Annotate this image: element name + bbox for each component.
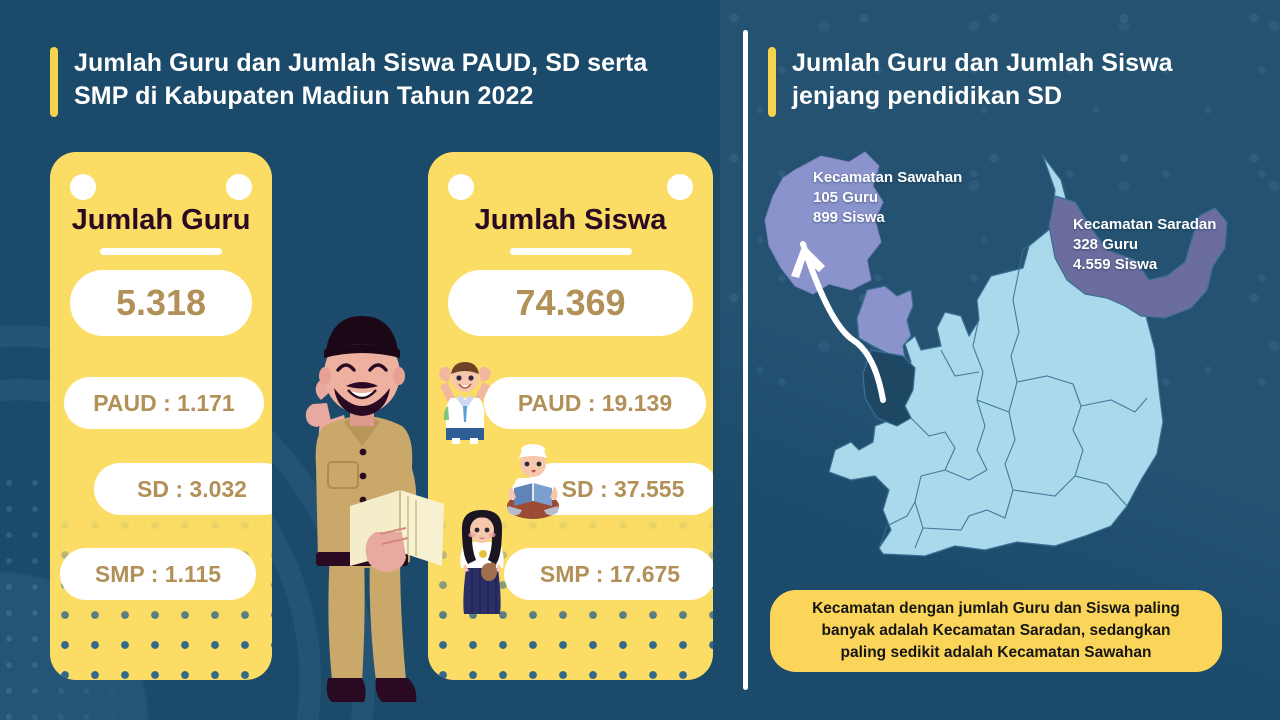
- map-container: Kecamatan Sawahan 105 Guru 899 Siswa Kec…: [755, 150, 1235, 570]
- right-header-accent-bar: [768, 47, 776, 117]
- card-guru-stat-paud: PAUD : 1.171: [64, 377, 264, 429]
- punch-hole-right-icon: [226, 174, 252, 200]
- card-siswa-underline: [510, 248, 632, 255]
- punch-hole-left-icon: [70, 174, 96, 200]
- left-header-accent-bar: [50, 47, 58, 117]
- card-siswa-title: Jumlah Siswa: [428, 204, 713, 237]
- card-guru-underline: [100, 248, 222, 255]
- card-guru-title: Jumlah Guru: [50, 204, 272, 237]
- student-smp-illustration: [452, 508, 512, 620]
- right-header: Jumlah Guru dan Jumlah Siswa jenjang pen…: [768, 47, 1173, 117]
- left-header: Jumlah Guru dan Jumlah Siswa PAUD, SD se…: [50, 47, 647, 117]
- card-siswa-total: 74.369: [448, 270, 693, 336]
- left-header-title: Jumlah Guru dan Jumlah Siswa PAUD, SD se…: [74, 47, 647, 113]
- conclusion-text: Kecamatan dengan jumlah Guru dan Siswa p…: [812, 598, 1180, 664]
- punch-hole-left-icon: [448, 174, 474, 200]
- student-paud-illustration: [434, 358, 496, 444]
- map-label-sawahan: Kecamatan Sawahan 105 Guru 899 Siswa: [813, 168, 962, 228]
- card-siswa-stat-smp: SMP : 17.675: [504, 548, 713, 600]
- card-guru-stat-sd: SD : 3.032: [94, 463, 272, 515]
- conclusion-box: Kecamatan dengan jumlah Guru dan Siswa p…: [770, 590, 1222, 672]
- card-guru-total: 5.318: [70, 270, 252, 336]
- vertical-divider: [743, 30, 748, 690]
- infographic-canvas: Jumlah Guru dan Jumlah Siswa PAUD, SD se…: [0, 0, 1280, 720]
- punch-hole-right-icon: [667, 174, 693, 200]
- card-jumlah-guru: Jumlah Guru 5.318 PAUD : 1.171 SD : 3.03…: [50, 152, 272, 680]
- card-guru-stat-smp: SMP : 1.115: [60, 548, 256, 600]
- card-siswa-stat-paud: PAUD : 19.139: [484, 377, 706, 429]
- teacher-illustration: [258, 300, 458, 720]
- map-label-saradan: Kecamatan Saradan 328 Guru 4.559 Siswa: [1073, 215, 1216, 275]
- right-header-title: Jumlah Guru dan Jumlah Siswa jenjang pen…: [792, 47, 1173, 113]
